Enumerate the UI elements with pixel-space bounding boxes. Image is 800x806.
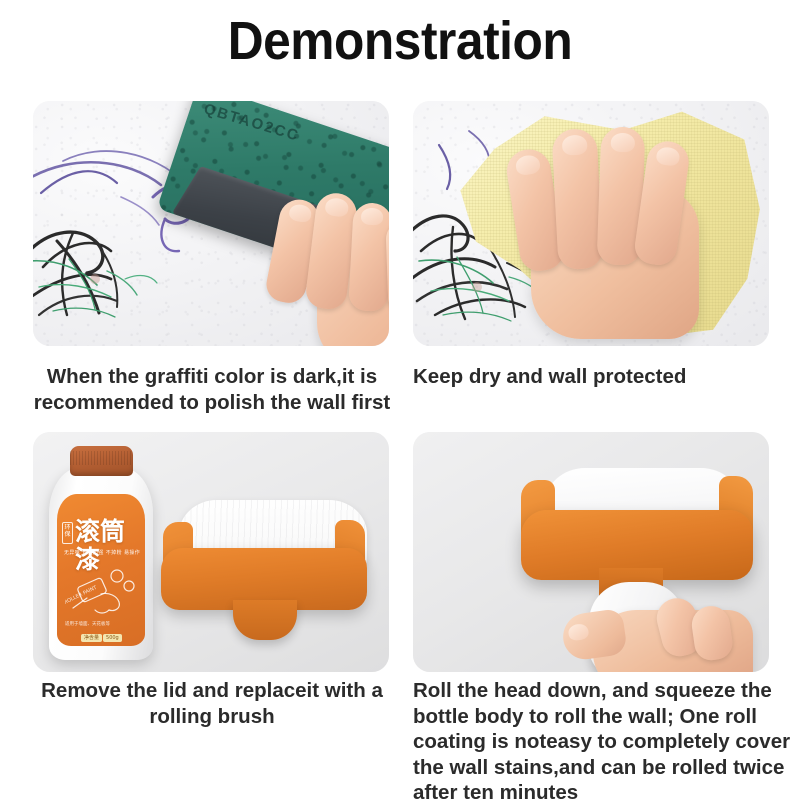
fingernail <box>611 133 636 153</box>
label-net-weight: 净含量 500g <box>81 634 122 642</box>
caption-wipe-dry: Keep dry and wall protected <box>413 364 785 390</box>
fingernail <box>515 154 542 177</box>
caption-polish-wall: When the graffiti color is dark,it is re… <box>26 364 398 416</box>
ring-finger <box>348 202 389 312</box>
hand-holding-sanding-block <box>265 193 389 346</box>
caption-roll-wall: Roll the head down, and squeeze the bott… <box>413 678 793 806</box>
fingernail <box>361 207 384 225</box>
product-label: 环保 滚筒漆 无异味 遮盖力强 不掉粉 易操作 ROLLER PAINT 适用于… <box>57 494 145 646</box>
panel-wipe-dry <box>413 101 769 346</box>
panel-polish-wall: QBTAO2CC <box>33 101 389 346</box>
svg-text:ROLLER PAINT: ROLLER PAINT <box>65 584 99 605</box>
demonstration-infographic: Demonstration <box>0 0 800 800</box>
fingernail <box>562 134 588 155</box>
fingernail <box>324 197 349 218</box>
page-title: Demonstration <box>32 8 768 74</box>
thumbnail <box>567 623 589 642</box>
middle-finger <box>551 128 603 270</box>
label-net-weight-value: 500g <box>103 634 122 642</box>
caption-replace-lid: Remove the lid and replaceit with a roll… <box>26 678 398 730</box>
hand-squeezing-bottle <box>563 590 753 672</box>
roller-bottle-connector <box>233 600 297 640</box>
fingernail <box>655 146 680 167</box>
label-net-weight-text: 净含量 <box>81 634 102 642</box>
label-roller-illustration: ROLLER PAINT <box>65 564 137 622</box>
label-eco-badge: 环保 <box>62 522 73 544</box>
fingernail <box>288 203 313 224</box>
hand-wiping-wall <box>509 125 719 340</box>
bottle-cap <box>70 446 133 476</box>
roller-brush-head <box>161 500 367 648</box>
panel-roll-wall <box>413 432 769 672</box>
label-usage-note: 适用于墙面、天花板等 <box>65 622 137 628</box>
paint-bottle: 环保 滚筒漆 无异味 遮盖力强 不掉粉 易操作 ROLLER PAINT 适用于… <box>49 446 153 660</box>
panel-replace-lid: 环保 滚筒漆 无异味 遮盖力强 不掉粉 易操作 ROLLER PAINT 适用于… <box>33 432 389 672</box>
label-features: 无异味 遮盖力强 不掉粉 易操作 <box>64 550 140 557</box>
